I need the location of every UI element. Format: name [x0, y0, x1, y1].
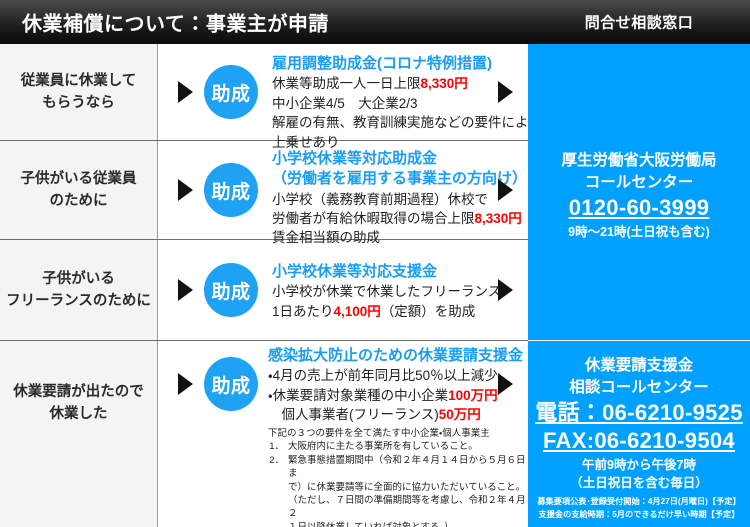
list-item: 2． 緊急事態措置期間中（令和２年４月１４日から５月６日ま で）に休業要請等に全… [268, 454, 528, 527]
arrow-right-icon-row1-left [178, 81, 193, 103]
arrow-right-icon-row2-right [498, 179, 513, 201]
panel2-phone-number[interactable]: 電話：06-6210-9525 [528, 399, 750, 427]
row-label-employee-with-children: 子供がいる従業員 のために [0, 141, 157, 239]
row-label-text: 従業員に休業して もらうなら [21, 70, 137, 115]
row3-line2-pre: 1日あたり [272, 304, 334, 319]
row2-line2: 労働者が有給休暇取得の場合上限8,330円 [272, 209, 527, 228]
row3-content: 小学校休業等対応支援金 小学校が休業で休業したフリーランス 1日あたり4,100… [272, 262, 501, 321]
panel2-hours-line1: 午前9時から午後7時 [528, 457, 750, 475]
row2-line2-text: 労働者が有給休暇取得の場合上限 [272, 211, 475, 226]
arrow-right-icon-row1-right [498, 81, 513, 103]
page-header: 休業補償について：事業主が申請 問合せ相談窓口 [0, 0, 750, 44]
row-body-3: 助成 小学校休業等対応支援金 小学校が休業で休業したフリーランス 1日あたり4,… [158, 240, 528, 340]
row3-line2-post: （定額）を助成 [381, 304, 476, 319]
requirement-number: 1． [268, 440, 288, 453]
contact-panel-suspension-support: 休業要請支援金 相談コールセンター 電話：06-6210-9525 FAX:06… [528, 341, 750, 527]
row4-requirements-list: 1． 大阪府内に主たる事業所を有していること。 2． 緊急事態措置期間中（令和２… [268, 440, 528, 527]
panel2-callcenter-label: 相談コールセンター [528, 377, 750, 399]
row1-title: 雇用調整助成金(コロナ特例措置) [272, 54, 542, 74]
page-title: 休業補償について：事業主が申請 [22, 8, 329, 37]
row2-line1: 小学校（義務教育前期過程）休校で [272, 190, 527, 209]
header-contact-label: 問合せ相談窓口 [528, 12, 750, 33]
row-body-4: 助成 感染拡大防止のための休業要請支援金 ・4月の売上が前年同月比50％以上減少… [158, 341, 528, 527]
panel1-phone-number[interactable]: 0120-60-3999 [528, 194, 750, 222]
subsidy-badge-row1: 助成 [204, 65, 258, 119]
panel1-org-name: 厚生労働省大阪労働局 [528, 150, 750, 172]
arrow-right-icon-row3-right [498, 279, 513, 301]
row4-bullet-3: 個人事業者(フリーランス)50万円 [268, 405, 528, 424]
row2-title-line1: 小学校休業等対応助成金 [272, 149, 527, 169]
row-label-text: 休業要請が出たので 休業した [13, 381, 144, 426]
requirement-number: 2． [268, 454, 288, 527]
row4-bullet-1: ・4月の売上が前年同月比50％以上減少 [268, 366, 528, 385]
arrow-right-icon-row4-left [178, 373, 193, 395]
row3-line1: 小学校が休業で休業したフリーランス [272, 282, 501, 301]
row3-amount: 4,100円 [334, 304, 381, 319]
panel2-fax-number[interactable]: FAX:06-6210-9504 [528, 427, 750, 455]
row2-title-line2: （労働者を雇用する事業主の方向け） [272, 169, 527, 189]
panel2-hours-line2: （土日祝日を含む毎日） [528, 475, 750, 493]
row4-amount-freelance: 50万円 [439, 407, 481, 422]
arrow-right-icon-row4-right [498, 373, 513, 395]
row4-title: 感染拡大防止のための休業要請支援金 [268, 346, 528, 366]
arrow-right-icon-row3-left [178, 279, 193, 301]
row1-amount: 8,330円 [421, 76, 468, 91]
row3-line2: 1日あたり4,100円（定額）を助成 [272, 302, 501, 321]
row1-line3: 解雇の有無、教育訓練実施などの要件により [272, 113, 542, 132]
panel2-program-name: 休業要請支援金 [528, 355, 750, 377]
requirement-text: 大阪府内に主たる事業所を有していること。 [288, 440, 478, 453]
row4-amount-sme: 100万円 [448, 388, 498, 403]
infographic-page: 休業補償について：事業主が申請 問合せ相談窓口 従業員に休業して もらうなら 助… [0, 0, 750, 527]
row4-requirements-intro: 下記の３つの要件を全て満たす中小企業・個人事業主 [268, 427, 528, 440]
row-label-freelance-with-children: 子供がいる フリーランスのために [0, 240, 157, 340]
subsidy-badge-row2: 助成 [204, 163, 258, 217]
row-label-business-suspension: 休業要請が出たので 休業した [0, 341, 157, 527]
row-body-2: 助成 小学校休業等対応助成金 （労働者を雇用する事業主の方向け） 小学校（義務教… [158, 141, 528, 239]
row2-amount: 8,330円 [475, 211, 522, 226]
row-label-text: 子供がいる従業員 のために [21, 168, 137, 213]
arrow-right-icon-row2-left [178, 179, 193, 201]
panel1-hours: 9時〜21時(土日祝も含む) [528, 224, 750, 242]
panel2-note-application: 募集要項公表･登録受付開始：4月27日(月曜日)【予定】 [528, 496, 750, 508]
row4-bullet-3-text: 個人事業者(フリーランス) [268, 407, 439, 422]
list-item: 1． 大阪府内に主たる事業所を有していること。 [268, 440, 528, 453]
row2-content: 小学校休業等対応助成金 （労働者を雇用する事業主の方向け） 小学校（義務教育前期… [272, 149, 527, 248]
row-label-text: 子供がいる フリーランスのために [6, 268, 151, 313]
row3-title: 小学校休業等対応支援金 [272, 262, 501, 282]
row1-line1-text: 休業等助成一人一日上限 [272, 76, 421, 91]
row1-content: 雇用調整助成金(コロナ特例措置) 休業等助成一人一日上限8,330円 中小企業4… [272, 54, 542, 152]
contact-panel-labour-bureau: 厚生労働省大阪労働局 コールセンター 0120-60-3999 9時〜21時(土… [528, 44, 750, 340]
panel1-callcenter-label: コールセンター [528, 172, 750, 194]
row-label-employee-leave: 従業員に休業して もらうなら [0, 44, 157, 140]
subsidy-badge-row4: 助成 [204, 357, 258, 411]
panel2-note-payment: 支援金の支給時期：5月のできるだけ早い時期【予定】 [528, 509, 750, 521]
row-body-1: 助成 雇用調整助成金(コロナ特例措置) 休業等助成一人一日上限8,330円 中小… [158, 44, 528, 140]
row4-content: 感染拡大防止のための休業要請支援金 ・4月の売上が前年同月比50％以上減少 ・休… [268, 346, 528, 527]
subsidy-badge-row3: 助成 [204, 263, 258, 317]
row4-bullet-2: ・休業要請対象業種の中小企業100万円 [268, 386, 528, 405]
requirement-text: 緊急事態措置期間中（令和２年４月１４日から５月６日ま で）に休業要請等に全面的に… [288, 454, 528, 527]
row4-bullet-2-text: ・休業要請対象業種の中小企業 [268, 388, 448, 403]
